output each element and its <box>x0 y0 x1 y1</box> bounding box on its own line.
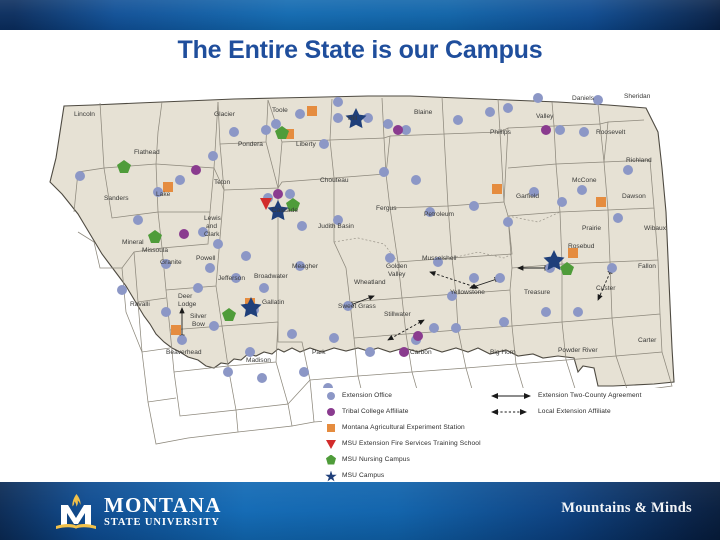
arrow-solid-icon <box>486 389 538 403</box>
svg-text:Powder River: Powder River <box>558 347 598 354</box>
svg-text:Mineral: Mineral <box>122 239 144 246</box>
logo-state-university-text: STATE UNIVERSITY <box>104 516 222 529</box>
slide: The Entire State is our Campus <box>0 0 720 540</box>
legend-label: Tribal College Affiliate <box>342 408 409 415</box>
svg-text:Liberty: Liberty <box>296 141 316 148</box>
legend-item-local-affiliate: Local Extension Affiliate <box>486 404 720 419</box>
legend-item-two-county-agreement: Extension Two-County Agreement <box>486 388 720 403</box>
svg-text:Petroleum: Petroleum <box>424 211 455 218</box>
svg-text:Roosevelt: Roosevelt <box>596 129 625 136</box>
svg-text:Hill: Hill <box>348 115 358 122</box>
svg-text:Cascade: Cascade <box>272 207 298 214</box>
svg-text:Phillips: Phillips <box>490 129 512 136</box>
svg-text:Carbon: Carbon <box>410 349 432 356</box>
svg-text:Deer: Deer <box>178 293 193 300</box>
svg-text:Glacier: Glacier <box>214 111 236 118</box>
legend-label: Montana Agricultural Experiment Station <box>342 424 465 431</box>
svg-text:Wheatland: Wheatland <box>354 279 386 286</box>
svg-text:Toole: Toole <box>272 107 288 114</box>
svg-text:Missoula: Missoula <box>142 247 168 254</box>
svg-text:Valley: Valley <box>388 271 406 278</box>
ag-experiment-station-icon <box>324 421 342 435</box>
svg-text:Flathead: Flathead <box>134 149 160 156</box>
svg-text:Dawson: Dawson <box>622 193 646 200</box>
legend-label: MSU Nursing Campus <box>342 456 410 463</box>
svg-text:Garfield: Garfield <box>516 193 539 200</box>
legend-item-fire-services-school: MSU Extension Fire Services Training Sch… <box>324 436 554 451</box>
svg-text:Madison: Madison <box>246 357 271 364</box>
legend-label: MSU Extension Fire Services Training Sch… <box>342 440 481 447</box>
svg-text:Big Horn: Big Horn <box>490 349 516 356</box>
svg-text:and: and <box>206 223 217 230</box>
tribal-college-icon <box>324 405 342 419</box>
svg-text:Sheridan: Sheridan <box>624 93 651 100</box>
svg-text:Richland: Richland <box>626 157 652 164</box>
msu-torch-m-icon <box>52 492 100 534</box>
msu-campus-icon <box>324 469 342 483</box>
svg-text:Silver: Silver <box>190 313 207 320</box>
svg-text:Bow: Bow <box>192 321 205 328</box>
svg-text:Sanders: Sanders <box>104 195 129 202</box>
legend-item-ag-experiment-station: Montana Agricultural Experiment Station <box>324 420 554 435</box>
svg-text:Wibaux: Wibaux <box>644 225 667 232</box>
tagline: Mountains & Minds <box>561 500 692 517</box>
nursing-campus-icon <box>324 453 342 467</box>
svg-text:Granite: Granite <box>160 259 182 266</box>
logo-montana-text: MONTANA <box>104 495 222 516</box>
svg-text:Rosebud: Rosebud <box>568 243 595 250</box>
svg-text:Lake: Lake <box>156 191 171 198</box>
svg-text:Judith Basin: Judith Basin <box>318 223 354 230</box>
svg-text:Meagher: Meagher <box>292 263 319 270</box>
page-title: The Entire State is our Campus <box>0 36 720 65</box>
svg-text:Prairie: Prairie <box>582 225 601 232</box>
svg-text:Carter: Carter <box>638 337 657 344</box>
svg-text:Powell: Powell <box>196 255 216 262</box>
legend-item-nursing-campus: MSU Nursing Campus <box>324 452 554 467</box>
legend-label: Extension Office <box>342 392 392 399</box>
svg-text:Pondera: Pondera <box>238 141 263 148</box>
svg-text:Yellowstone: Yellowstone <box>450 289 485 296</box>
svg-text:Chouteau: Chouteau <box>320 177 349 184</box>
top-banner-sheen <box>0 0 720 30</box>
msu-wordmark: MONTANA STATE UNIVERSITY <box>104 495 222 529</box>
svg-text:Blaine: Blaine <box>414 109 433 116</box>
svg-text:Daniels: Daniels <box>572 95 595 102</box>
legend-label: MSU Campus <box>342 472 384 479</box>
svg-text:Stillwater: Stillwater <box>384 311 412 318</box>
legend-label: Local Extension Affiliate <box>538 408 611 415</box>
fire-services-school-icon <box>324 437 342 451</box>
svg-text:Custer: Custer <box>596 285 616 292</box>
svg-text:Sweet Grass: Sweet Grass <box>338 303 376 310</box>
svg-text:Gallatin: Gallatin <box>262 299 285 306</box>
svg-text:Fergus: Fergus <box>376 205 397 212</box>
svg-text:Park: Park <box>312 349 326 356</box>
svg-text:Golden: Golden <box>386 263 408 270</box>
svg-text:Lodge: Lodge <box>178 301 197 308</box>
legend-item-msu-campus: MSU Campus <box>324 468 554 483</box>
svg-text:Broadwater: Broadwater <box>254 273 289 280</box>
svg-text:Lewis: Lewis <box>204 215 222 222</box>
svg-text:Musselshell: Musselshell <box>422 255 457 262</box>
svg-text:Ravalli: Ravalli <box>130 301 150 308</box>
top-banner <box>0 0 720 30</box>
msu-logo: MONTANA STATE UNIVERSITY <box>52 492 232 534</box>
svg-text:McCone: McCone <box>572 177 597 184</box>
svg-text:Beaverhead: Beaverhead <box>166 349 202 356</box>
svg-text:Jefferson: Jefferson <box>218 275 245 282</box>
svg-text:Lincoln: Lincoln <box>74 111 95 118</box>
svg-text:Teton: Teton <box>214 179 230 186</box>
extension-office-icon <box>324 389 342 403</box>
arrow-dashed-icon <box>486 405 538 419</box>
svg-text:Clark: Clark <box>204 231 220 238</box>
svg-text:Treasure: Treasure <box>524 289 550 296</box>
svg-text:Valley: Valley <box>536 113 554 120</box>
svg-text:Fallon: Fallon <box>638 263 656 270</box>
legend-connectors-column: Extension Two-County Agreement <box>486 388 720 420</box>
legend-label: Extension Two-County Agreement <box>538 392 642 399</box>
map-legend: Extension Office Tribal College Affiliat… <box>322 388 720 480</box>
